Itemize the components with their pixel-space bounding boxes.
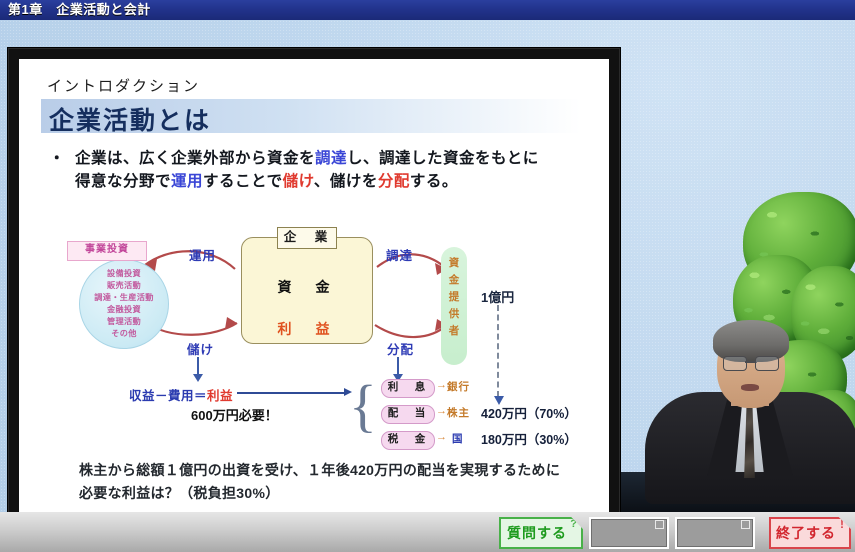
- required-profit-note: 600万円必要！: [191, 405, 278, 424]
- end-session-button[interactable]: 終了する !: [769, 517, 851, 549]
- presenter: [655, 320, 845, 500]
- question-line-1: 株主から総額１億円の出資を受け、１年後420万円の配当を実現するために: [79, 459, 599, 482]
- screen: 第1章 企業活動と会計: [0, 0, 855, 552]
- question-text: 株主から総額１億円の出資を受け、１年後420万円の配当を実現するために 必要な利…: [79, 459, 599, 505]
- brace-icon: {: [349, 377, 377, 435]
- profit-label: 利 益: [241, 319, 371, 339]
- ask-question-label: 質問する: [507, 523, 567, 543]
- ask-question-button[interactable]: 質問する ?: [499, 517, 583, 549]
- keyword-unyou: 運用: [171, 173, 203, 190]
- arrow-down-icon: [397, 357, 399, 375]
- distribution-box-tax: 税 金: [381, 431, 435, 450]
- arrow-down-icon: [197, 357, 199, 375]
- slide-kicker: イントロダクション: [47, 75, 200, 96]
- diagram: 設備投資販売活動調達・生産活動金融投資管理活動その他 事業投資 企 業 資 金 …: [19, 209, 609, 454]
- equation-keyword: 利益: [207, 389, 233, 403]
- keyword-bunpai: 分配: [378, 173, 410, 190]
- slide: イントロダクション 企業活動とは ・ 企業は、広く企業外部から資金を調達し、調達…: [19, 59, 609, 512]
- chapter-title: 第1章 企業活動と会計: [8, 1, 151, 19]
- arrow-right-icon: →: [436, 405, 447, 417]
- bullet-line-1: 企業は、広く企業外部から資金を調達し、調達した資金をもとに: [75, 147, 589, 170]
- square-icon: [655, 520, 664, 529]
- question-mark-icon: ?: [570, 518, 577, 530]
- arrow-right-icon: →: [436, 379, 447, 391]
- bullet-line-2: 得意な分野で運用することで儲け、儲けを分配する。: [75, 170, 589, 193]
- fund-provider-box: 資金提供者: [441, 247, 467, 365]
- funds-label: 資 金: [241, 277, 371, 297]
- slide-title-text: 企業活動とは: [49, 101, 211, 137]
- dashed-connector: [497, 305, 499, 397]
- end-session-label: 終了する: [776, 523, 836, 543]
- bullet-marker: ・: [49, 147, 65, 170]
- exclamation-mark-icon: !: [840, 517, 844, 531]
- disabled-button-2: [675, 517, 755, 549]
- keyword-mouke: 儲け: [283, 173, 314, 190]
- equation-arrow-icon: [237, 392, 345, 394]
- label-mouke: 儲け: [187, 339, 214, 358]
- recipient-shareholder: 株主: [447, 405, 470, 420]
- investment-circle: 設備投資販売活動調達・生産活動金融投資管理活動その他: [79, 259, 169, 349]
- recipient-government: 国: [452, 431, 464, 446]
- slide-title: 企業活動とは: [41, 99, 581, 133]
- title-bar: 第1章 企業活動と会計: [0, 0, 855, 21]
- bullet-paragraph: ・ 企業は、広く企業外部から資金を調達し、調達した資金をもとに 得意な分野で運用…: [49, 147, 589, 194]
- presenter-mouth: [741, 384, 759, 391]
- amount-dividend: 420万円（70%）: [481, 403, 577, 422]
- corporation-label: 企 業: [277, 227, 337, 249]
- keyword-choutatsu: 調達: [315, 150, 347, 167]
- bottom-toolbar: 質問する ? 終了する !: [0, 512, 855, 552]
- recipient-bank: 銀行: [447, 379, 470, 394]
- amount-tax: 180万円（30%）: [481, 429, 577, 448]
- question-line-2: 必要な利益は？（税負担30%）: [79, 482, 599, 505]
- label-bunpai: 分配: [387, 339, 414, 358]
- video-area[interactable]: イントロダクション 企業活動とは ・ 企業は、広く企業外部から資金を調達し、調達…: [0, 20, 855, 512]
- arrow-right-icon: →: [436, 431, 447, 443]
- slide-frame: イントロダクション 企業活動とは ・ 企業は、広く企業外部から資金を調達し、調達…: [8, 48, 620, 512]
- square-icon: [741, 520, 750, 529]
- distribution-box-interest: 利 息: [381, 379, 435, 398]
- disabled-button-1: [589, 517, 669, 549]
- glasses-icon: [723, 356, 779, 369]
- fund-provider-label: 資金提供者: [441, 255, 467, 340]
- total-amount-label: 1億円: [481, 287, 514, 306]
- investment-items: 設備投資販売活動調達・生産活動金融投資管理活動その他: [80, 268, 168, 340]
- distribution-box-dividend: 配 当: [381, 405, 435, 424]
- label-unyou: 運用: [189, 245, 216, 264]
- profit-equation: 収益－費用＝利益: [129, 385, 233, 404]
- investment-header: 事業投資: [67, 241, 147, 261]
- label-choutatsu: 調達: [386, 245, 413, 264]
